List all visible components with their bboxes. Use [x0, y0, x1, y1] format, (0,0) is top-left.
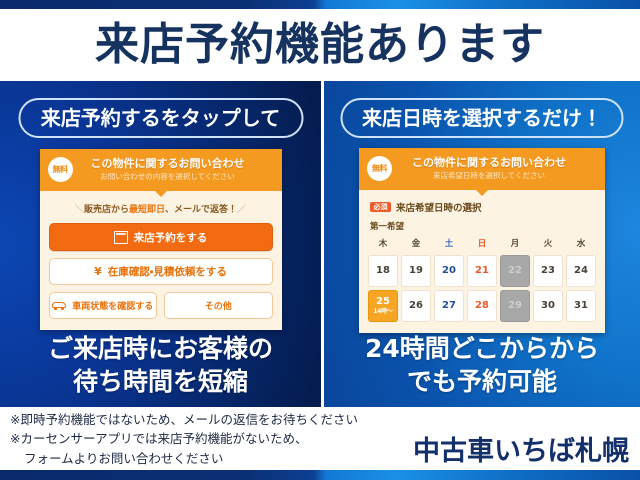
- store-icon: [114, 231, 128, 244]
- right-card-body: 必須 来店希望日時の選択 第一希望 木金土日月火水181920212223242…: [359, 190, 605, 333]
- calendar-day-cell[interactable]: 23: [533, 255, 563, 287]
- calendar-day-cell: 29: [500, 290, 530, 322]
- calendar-day-number: 25: [376, 297, 390, 308]
- calendar-day-cell[interactable]: 28: [467, 290, 497, 322]
- calendar-day-number: 31: [574, 301, 588, 312]
- calendar-day-cell[interactable]: 30: [533, 290, 563, 322]
- calendar-day-cell[interactable]: 24: [566, 255, 596, 287]
- calendar-day-cell: 22: [500, 255, 530, 287]
- calendar-day-cell[interactable]: 20: [434, 255, 464, 287]
- calendar-day-number: 21: [475, 266, 489, 277]
- yen-icon: ¥: [94, 266, 102, 277]
- right-phone-card: 無料 この物件に関するお問い合わせ 来店希望日時を選択してください 必須 来店希…: [359, 148, 605, 333]
- calendar-day-cell[interactable]: 27: [434, 290, 464, 322]
- other-button[interactable]: その他: [164, 292, 273, 319]
- dealer-logo: 中古車いちば札幌: [413, 429, 629, 468]
- calendar-day-cell[interactable]: 2514時〜: [368, 290, 398, 322]
- lead-note-c: 、メールで返答！: [165, 205, 237, 215]
- free-badge: 無料: [367, 156, 392, 181]
- right-card-header: 無料 この物件に関するお問い合わせ 来店希望日時を選択してください: [359, 148, 605, 190]
- reserve-visit-button[interactable]: 来店予約をする: [49, 223, 273, 251]
- footer: ※即時予約機能ではないため、メールの返信をお待ちください ※カーセンサーアプリで…: [0, 407, 640, 470]
- right-panel: 来店日時を選択するだけ！ 無料 この物件に関するお問い合わせ 来店希望日時を選択…: [324, 81, 640, 407]
- calendar-day-number: 19: [409, 266, 423, 277]
- calendar-day-cell[interactable]: 26: [401, 290, 431, 322]
- calendar-day-number: 24: [574, 266, 588, 277]
- right-panel-caption: 24時間どこからから でも予約可能: [324, 333, 640, 398]
- calendar-day-cell[interactable]: 31: [566, 290, 596, 322]
- reserve-visit-button-label: 来店予約をする: [134, 230, 208, 245]
- left-phone-card: 無料 この物件に関するお問い合わせ お問い合わせの内容を選択してください ＼販売…: [40, 149, 282, 330]
- left-panel: 来店予約するをタップして 無料 この物件に関するお問い合わせ お問い合わせの内容…: [0, 81, 321, 407]
- left-card-header: 無料 この物件に関するお問い合わせ お問い合わせの内容を選択してください: [40, 149, 282, 191]
- left-card-title: この物件に関するお問い合わせ: [80, 157, 256, 171]
- stock-quote-button-label: 在庫確認・見積依頼をする: [108, 264, 227, 279]
- footer-notes: ※即時予約機能ではないため、メールの返信をお待ちください ※カーセンサーアプリで…: [10, 410, 358, 468]
- calendar-day-number: 30: [541, 301, 555, 312]
- car-icon: [52, 302, 66, 310]
- vehicle-condition-button[interactable]: 車両状態を確認する: [49, 292, 158, 319]
- required-badge: 必須: [370, 202, 391, 212]
- page-title: 来店予約機能あります: [95, 23, 545, 67]
- left-card-header-texts: この物件に関するお問い合わせ お問い合わせの内容を選択してください: [80, 157, 274, 182]
- footer-note-2: ※カーセンサーアプリでは来店予約機能がないため、: [10, 431, 307, 446]
- left-card-body: ＼販売店から最短即日、メールで返答！／ 来店予約をする ¥ 在庫確認・見積依頼を…: [40, 191, 282, 330]
- lead-note-a: 販売店から: [84, 205, 129, 215]
- calendar-day-number: 29: [508, 301, 522, 312]
- vehicle-condition-button-label: 車両状態を確認する: [72, 299, 153, 312]
- promo-banner: 来店予約機能あります 来店予約するをタップして 無料 この物件に関するお問い合わ…: [0, 0, 640, 480]
- calendar-day-number: 20: [442, 266, 456, 277]
- left-panel-caption: ご来店時にお客様の 待ち時間を短縮: [0, 333, 321, 398]
- calendar-weekday-header: 水: [566, 236, 596, 252]
- calendar-day-cell[interactable]: 21: [467, 255, 497, 287]
- calendar-section-label: 来店希望日時の選択: [396, 200, 482, 214]
- lead-slash-right: ／: [237, 205, 246, 215]
- top-accent-bar: [0, 0, 640, 9]
- secondary-button-row: 車両状態を確認する その他: [49, 292, 273, 319]
- calendar-weekday-header: 月: [500, 236, 530, 252]
- calendar-day-number: 28: [475, 301, 489, 312]
- left-panel-pill-caption: 来店予約するをタップして: [18, 98, 303, 138]
- preference-label: 第一希望: [370, 220, 596, 232]
- calendar-day-number: 23: [541, 266, 555, 277]
- right-panel-pill-caption: 来店日時を選択するだけ！: [341, 98, 624, 138]
- calendar-day-number: 26: [409, 301, 423, 312]
- headline-band: 来店予約機能あります: [0, 9, 640, 81]
- calendar-weekday-header: 土: [434, 236, 464, 252]
- left-caption-line-1: ご来店時にお客様の: [0, 333, 321, 366]
- right-card-subtitle: 来店希望日時を選択してください: [399, 171, 579, 182]
- calendar-weekday-header: 火: [533, 236, 563, 252]
- bottom-accent-bar: [0, 470, 640, 480]
- right-caption-line-2: でも予約可能: [324, 366, 640, 399]
- calendar-weekday-header: 日: [467, 236, 497, 252]
- lead-note-highlight: 最短即日: [129, 205, 165, 215]
- stock-quote-button[interactable]: ¥ 在庫確認・見積依頼をする: [49, 258, 273, 285]
- left-card-subtitle: お問い合わせの内容を選択してください: [80, 172, 256, 183]
- calendar-day-time: 14時〜: [373, 309, 392, 315]
- calendar-day-number: 27: [442, 301, 456, 312]
- footer-note-3: フォームよりお問い合わせください: [10, 449, 358, 468]
- right-card-title: この物件に関するお問い合わせ: [399, 156, 579, 170]
- calendar-grid[interactable]: 木金土日月火水181920212223242514時〜262728293031: [368, 236, 596, 322]
- panels-container: 来店予約するをタップして 無料 この物件に関するお問い合わせ お問い合わせの内容…: [0, 81, 640, 407]
- calendar-weekday-header: 金: [401, 236, 431, 252]
- calendar-section-header: 必須 来店希望日時の選択: [370, 200, 596, 214]
- calendar-day-cell[interactable]: 18: [368, 255, 398, 287]
- footer-note-1: ※即時予約機能ではないため、メールの返信をお待ちください: [10, 412, 358, 427]
- calendar-day-number: 18: [376, 266, 390, 277]
- calendar-day-number: 22: [508, 266, 522, 277]
- other-button-label: その他: [205, 299, 232, 312]
- right-card-header-texts: この物件に関するお問い合わせ 来店希望日時を選択してください: [399, 156, 597, 181]
- right-caption-line-1: 24時間どこからから: [324, 333, 640, 366]
- left-lead-note: ＼販売店から最短即日、メールで返答！／: [49, 202, 273, 215]
- calendar-weekday-header: 木: [368, 236, 398, 252]
- calendar-day-cell[interactable]: 19: [401, 255, 431, 287]
- free-badge: 無料: [48, 157, 73, 182]
- left-caption-line-2: 待ち時間を短縮: [0, 366, 321, 399]
